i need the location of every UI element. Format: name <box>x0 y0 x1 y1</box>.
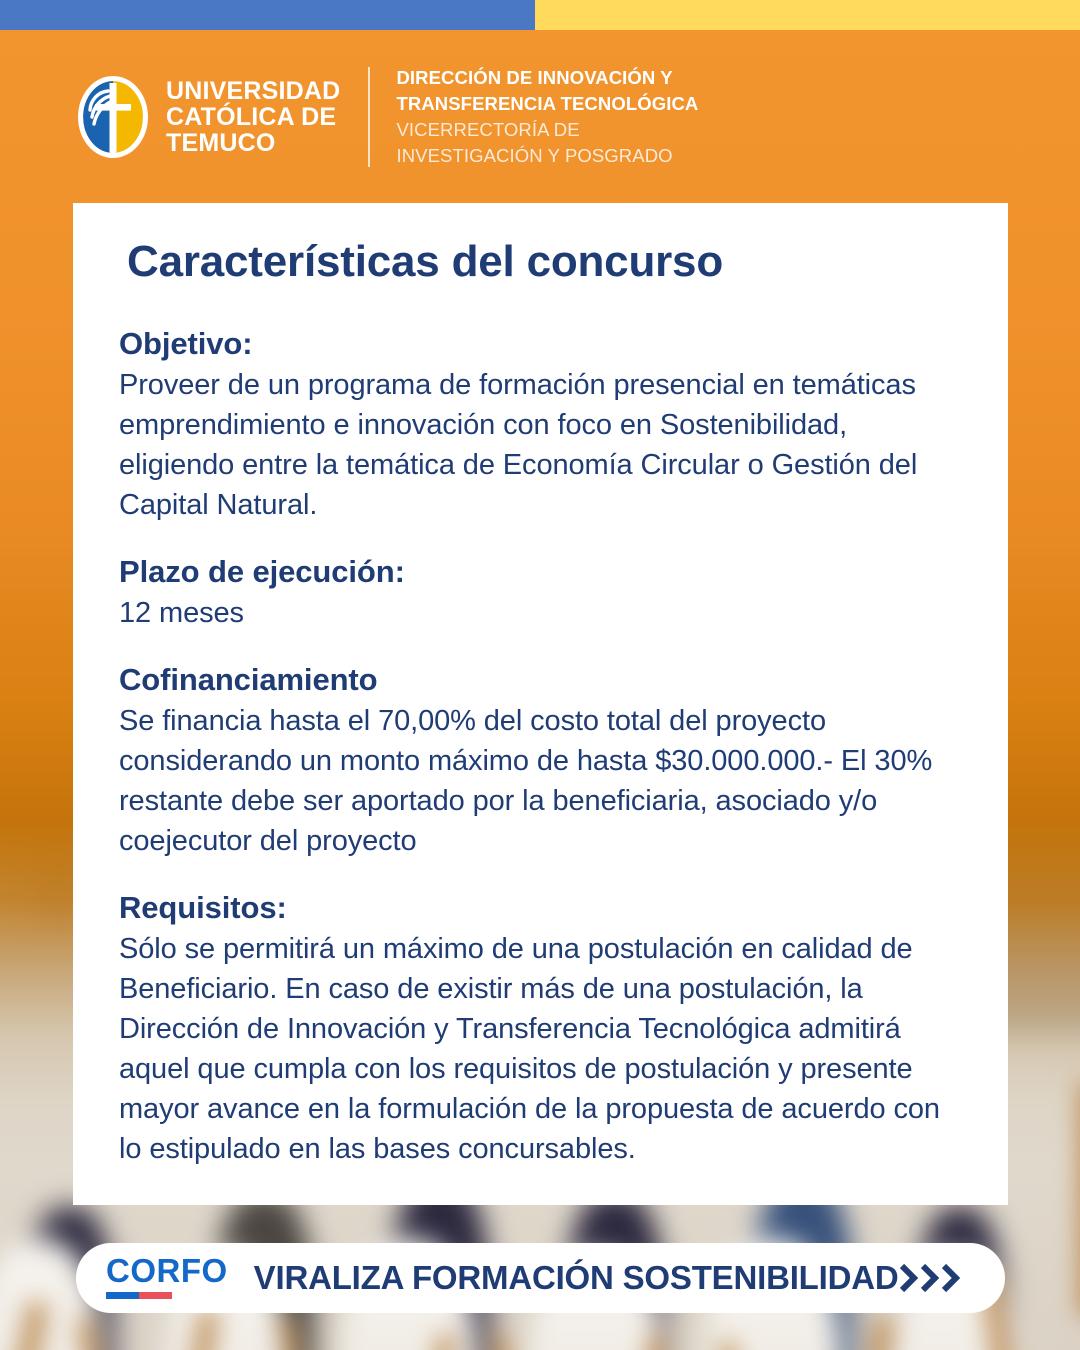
department-line-3: VICERRECTORÍA DE <box>396 117 698 143</box>
page-header: UNIVERSIDAD CATÓLICA DE TEMUCO DIRECCIÓN… <box>0 30 1080 203</box>
department-block: DIRECCIÓN DE INNOVACIÓN Y TRANSFERENCIA … <box>396 65 698 169</box>
section-objetivo: Objetivo: Proveer de un programa de form… <box>119 325 962 525</box>
uct-shield-logo-icon <box>76 74 150 160</box>
content-card: Características del concurso Objetivo: P… <box>73 203 1008 1205</box>
department-line-4: INVESTIGACIÓN Y POSGRADO <box>396 143 698 169</box>
university-name-line-2: CATÓLICA DE <box>166 104 340 130</box>
section-heading: Plazo de ejecución: <box>119 553 962 591</box>
university-name-line-1: UNIVERSIDAD <box>166 78 340 104</box>
section-heading: Requisitos: <box>119 889 962 927</box>
program-title: VIRALIZA FORMACIÓN SOSTENIBILIDAD <box>254 1259 899 1297</box>
section-body: 12 meses <box>119 593 962 633</box>
corfo-flag-rule-icon <box>106 1292 172 1299</box>
corfo-logo: CORFO <box>106 1255 228 1301</box>
section-heading: Cofinanciamiento <box>119 661 962 699</box>
section-body: Se financia hasta el 70,00% del costo to… <box>119 701 962 861</box>
section-body: Proveer de un programa de formación pres… <box>119 365 962 525</box>
triple-chevron-right-icon[interactable] <box>899 1263 961 1293</box>
department-line-1: DIRECCIÓN DE INNOVACIÓN Y <box>396 65 698 91</box>
department-line-2: TRANSFERENCIA TECNOLÓGICA <box>396 91 698 117</box>
corfo-rule-red <box>139 1292 172 1299</box>
section-heading: Objetivo: <box>119 325 962 363</box>
strip-block-yellow <box>535 0 1080 30</box>
section-body: Sólo se permitirá un máximo de una postu… <box>119 929 962 1169</box>
section-plazo: Plazo de ejecución: 12 meses <box>119 553 962 633</box>
university-name-line-3: TEMUCO <box>166 130 340 156</box>
poster-canvas: UNIVERSIDAD CATÓLICA DE TEMUCO DIRECCIÓN… <box>0 0 1080 1350</box>
footer-banner[interactable]: CORFO VIRALIZA FORMACIÓN SOSTENIBILIDAD <box>76 1243 1005 1313</box>
header-divider <box>368 67 370 167</box>
strip-block-blue <box>0 0 535 30</box>
section-requisitos: Requisitos: Sólo se permitirá un máximo … <box>119 889 962 1169</box>
corfo-rule-blue <box>106 1292 139 1299</box>
corfo-wordmark: CORFO <box>106 1255 228 1287</box>
top-color-strip <box>0 0 1080 30</box>
page-title: Características del concurso <box>127 237 962 287</box>
section-cofinanciamiento: Cofinanciamiento Se financia hasta el 70… <box>119 661 962 861</box>
university-name: UNIVERSIDAD CATÓLICA DE TEMUCO <box>166 78 340 156</box>
brand-lockup: UNIVERSIDAD CATÓLICA DE TEMUCO DIRECCIÓN… <box>76 65 698 169</box>
